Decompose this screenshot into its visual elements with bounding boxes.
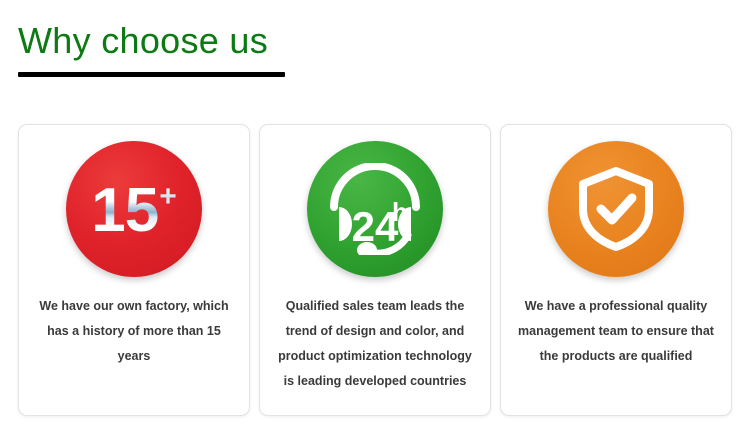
years-badge-label: 15 + (91, 180, 177, 242)
support-hours-suffix: h (392, 197, 408, 227)
feature-card-text: We have our own factory, which has a his… (19, 294, 249, 369)
years-badge: 15 + (66, 141, 202, 277)
feature-card-quality[interactable]: We have a professional quality managemen… (500, 124, 732, 416)
section-heading-block: Why choose us (18, 20, 418, 77)
feature-card-factory[interactable]: 15 + We have our own factory, which has … (18, 124, 250, 416)
support-badge: 24 h (307, 141, 443, 277)
feature-card-text: Qualified sales team leads the trend of … (260, 294, 490, 394)
shield-check-icon (576, 165, 656, 253)
page-title: Why choose us (18, 20, 418, 62)
headset-24h-icon: 24 h (325, 163, 425, 255)
feature-card-sales-team[interactable]: 24 h Qualified sales team leads the tren… (259, 124, 491, 416)
heading-underline-rule (18, 72, 285, 77)
years-plus-sign: + (159, 182, 177, 212)
feature-card-text: We have a professional quality managemen… (501, 294, 731, 369)
years-number: 15 (91, 180, 158, 242)
quality-badge (548, 141, 684, 277)
feature-cards-row: 15 + We have our own factory, which has … (18, 124, 732, 416)
